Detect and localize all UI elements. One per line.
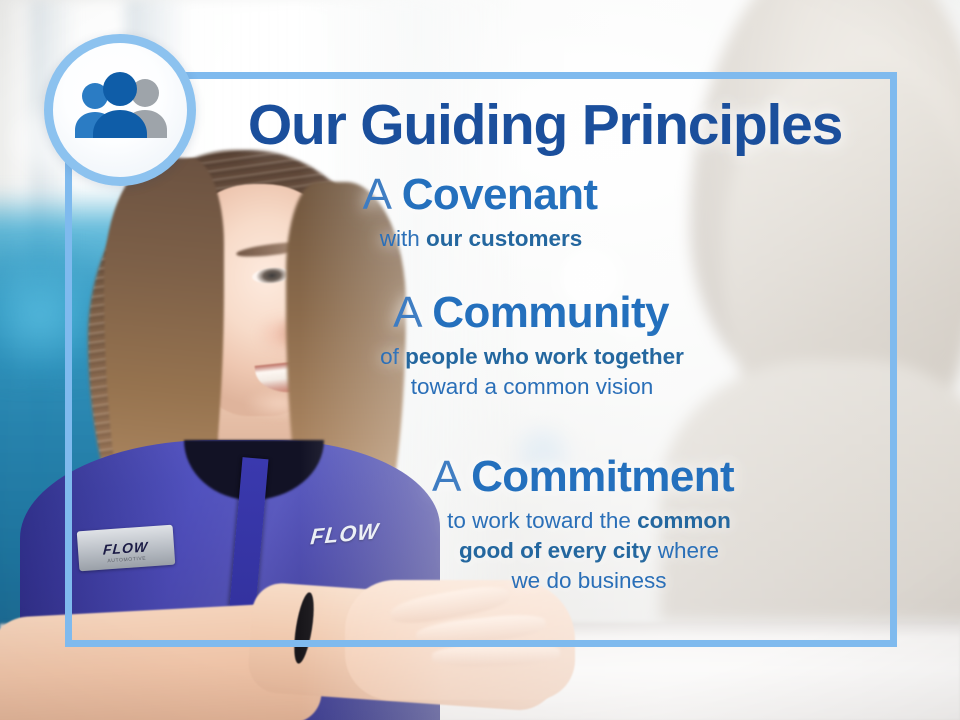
subtitle-line: good of every city where <box>298 536 880 566</box>
principle-community: A Community of people who work together … <box>90 290 880 402</box>
principle-community-subtitle: of people who work together toward a com… <box>90 342 880 402</box>
page-title: Our Guiding Principles <box>220 96 870 154</box>
principle-keyword: Community <box>432 288 669 337</box>
principle-commitment-subtitle: to work toward the common good of every … <box>90 506 880 596</box>
principle-covenant-heading: A Covenant <box>90 172 880 219</box>
principle-keyword: Covenant <box>402 170 598 219</box>
principle-commitment: A Commitment to work toward the common g… <box>90 454 880 596</box>
subtitle-line: toward a common vision <box>184 372 880 402</box>
principle-article: A <box>363 170 390 219</box>
principles-content: Our Guiding Principles A Covenant with o… <box>90 72 880 647</box>
subtitle-plain: to work toward the <box>447 508 637 533</box>
subtitle-line: of people who work together <box>184 342 880 372</box>
principle-covenant-subtitle: with our customers <box>90 224 880 254</box>
subtitle-bold: good of every city <box>459 538 652 563</box>
principle-covenant: A Covenant with our customers <box>90 172 880 254</box>
subtitle-plain: of <box>380 344 405 369</box>
principle-article: A <box>393 288 420 337</box>
guiding-principles-banner: FLOW AUTOMOTIVE FLOW <box>0 0 960 720</box>
subtitle-bold: our customers <box>426 226 582 251</box>
subtitle-line: to work toward the common <box>298 506 880 536</box>
subtitle-plain: with <box>380 226 426 251</box>
subtitle-line: we do business <box>298 566 880 596</box>
subtitle-plain: where <box>652 538 720 563</box>
principle-keyword: Commitment <box>471 452 734 501</box>
principle-community-heading: A Community <box>90 290 880 337</box>
principle-article: A <box>432 452 459 501</box>
subtitle-bold: people who work together <box>405 344 684 369</box>
subtitle-bold: common <box>637 508 731 533</box>
principle-commitment-heading: A Commitment <box>90 454 880 501</box>
